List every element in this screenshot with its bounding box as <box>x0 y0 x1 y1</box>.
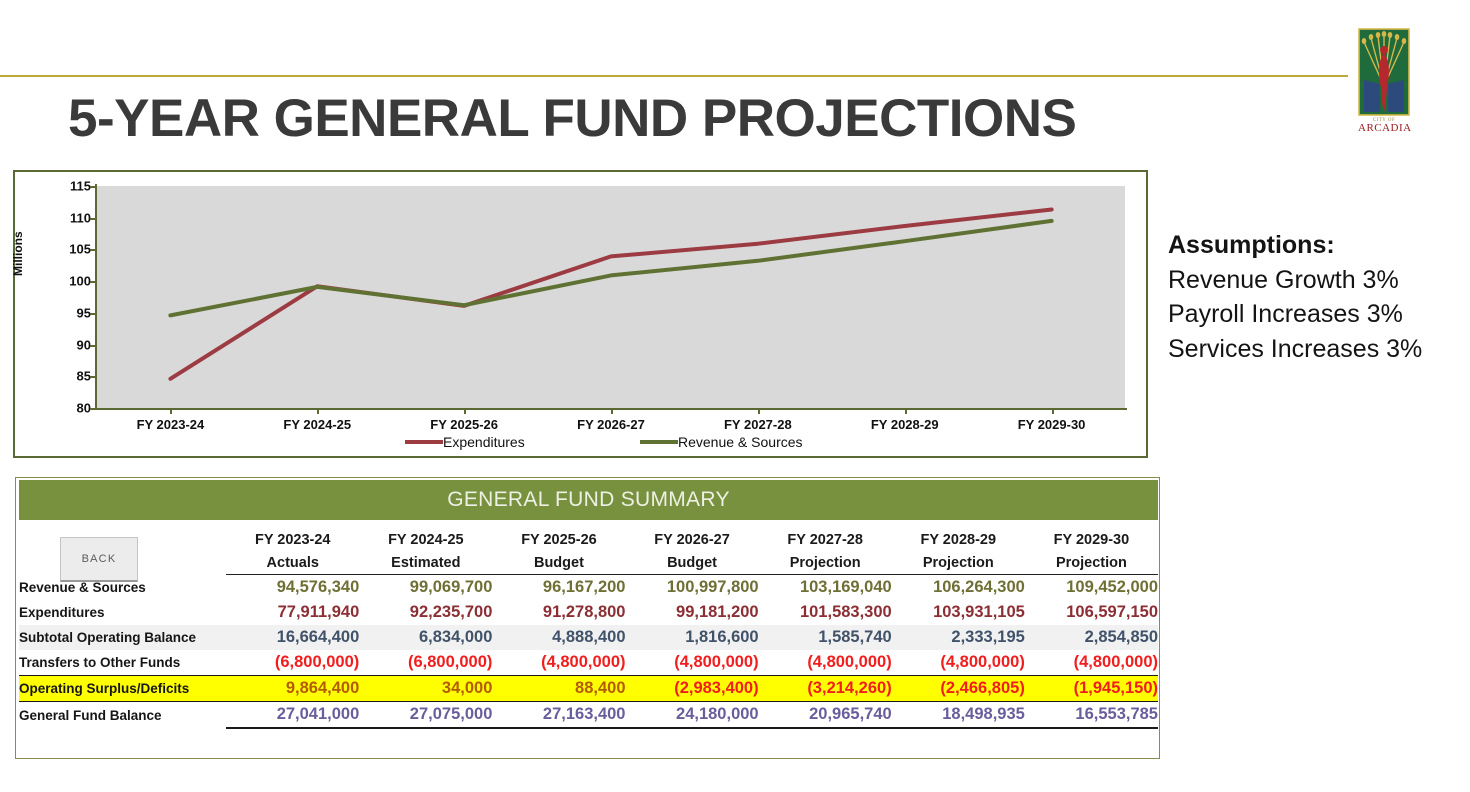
x-tick-mark <box>317 408 319 414</box>
column-header-subtitle: Projection <box>759 552 892 574</box>
legend-swatch-icon <box>640 440 678 444</box>
row-label: Transfers to Other Funds <box>19 650 226 676</box>
column-header-fiscal-year: FY 2023-24 <box>226 529 359 551</box>
column-header-subtitle: Projection <box>1025 552 1158 574</box>
table-cell: 94,576,340 <box>226 575 359 601</box>
x-tick-mark <box>1052 408 1054 414</box>
table-cell: 27,163,400 <box>492 702 625 729</box>
table-row: Transfers to Other Funds(6,800,000)(6,80… <box>19 650 1158 676</box>
table-cell: (4,800,000) <box>892 650 1025 676</box>
table-cell: 77,911,940 <box>226 600 359 625</box>
peacock-icon <box>1358 28 1410 116</box>
x-tick-mark <box>758 408 760 414</box>
table-cell: 99,181,200 <box>626 600 759 625</box>
column-header-fiscal-year: FY 2028-29 <box>892 529 1025 551</box>
column-header-fiscal-year: FY 2025-26 <box>492 529 625 551</box>
table-row: Expenditures77,911,94092,235,70091,278,8… <box>19 600 1158 625</box>
table-head: FY 2023-24ActualsFY 2024-25EstimatedFY 2… <box>19 526 1158 575</box>
header-divider-rule <box>0 75 1348 77</box>
table-cell: (4,800,000) <box>492 650 625 676</box>
series-line-revenue-sources <box>170 221 1051 316</box>
x-tick-mark <box>170 408 172 414</box>
column-header: FY 2023-24Actuals <box>226 526 359 575</box>
y-tick-mark <box>90 186 95 188</box>
table-cell: 16,553,785 <box>1025 702 1158 729</box>
table-cell: 34,000 <box>359 676 492 702</box>
table-body: Revenue & Sources94,576,34099,069,70096,… <box>19 575 1158 729</box>
table-cell: 2,333,195 <box>892 625 1025 650</box>
x-tick-label: FY 2025-26 <box>430 417 498 432</box>
table-cell: 109,452,000 <box>1025 575 1158 601</box>
table-cell: 6,834,000 <box>359 625 492 650</box>
column-header-fiscal-year: FY 2026-27 <box>626 529 759 551</box>
legend-swatch-icon <box>405 440 443 444</box>
table-cell: 1,585,740 <box>759 625 892 650</box>
column-header-fiscal-year: FY 2024-25 <box>359 529 492 551</box>
y-tick-mark <box>90 281 95 283</box>
column-header: FY 2025-26Budget <box>492 526 625 575</box>
x-tick-label: FY 2023-24 <box>137 417 205 432</box>
projection-line-chart: Millions 80859095100105110115 Expenditur… <box>13 170 1148 458</box>
y-tick-label: 105 <box>57 242 91 257</box>
assumption-line-1: Revenue Growth 3% <box>1168 263 1463 298</box>
table-cell: 103,169,040 <box>759 575 892 601</box>
table-row: Operating Surplus/Deficits9,864,40034,00… <box>19 676 1158 702</box>
column-header: FY 2024-25Estimated <box>359 526 492 575</box>
y-tick-label: 115 <box>57 179 91 194</box>
logo-caption-main: ARCADIA <box>1358 123 1410 135</box>
y-tick-label: 85 <box>57 369 91 384</box>
legend-entry: Revenue & Sources <box>640 434 803 450</box>
y-tick-label: 80 <box>57 401 91 416</box>
table-cell: 27,041,000 <box>226 702 359 729</box>
table-cell: 106,264,300 <box>892 575 1025 601</box>
table-cell: (6,800,000) <box>226 650 359 676</box>
table-header-row: FY 2023-24ActualsFY 2024-25EstimatedFY 2… <box>19 526 1158 575</box>
table-cell: (4,800,000) <box>759 650 892 676</box>
table-cell: (4,800,000) <box>626 650 759 676</box>
x-tick-mark <box>905 408 907 414</box>
table-corner-cell <box>19 526 226 575</box>
table-cell: 27,075,000 <box>359 702 492 729</box>
row-label: Operating Surplus/Deficits <box>19 676 226 702</box>
y-tick-label: 95 <box>57 305 91 320</box>
table-cell: (6,800,000) <box>359 650 492 676</box>
general-fund-summary-panel: GENERAL FUND SUMMARY BACK FY 2023-24Actu… <box>15 477 1160 759</box>
row-label: Subtotal Operating Balance <box>19 625 226 650</box>
y-tick-mark <box>90 218 95 220</box>
table-cell: 16,664,400 <box>226 625 359 650</box>
x-tick-label: FY 2029-30 <box>1018 417 1086 432</box>
x-tick-label: FY 2024-25 <box>283 417 351 432</box>
assumptions-title: Assumptions: <box>1168 228 1463 263</box>
row-label: General Fund Balance <box>19 702 226 729</box>
row-label: Expenditures <box>19 600 226 625</box>
table-cell: 100,997,800 <box>626 575 759 601</box>
table-cell: 103,931,105 <box>892 600 1025 625</box>
legend-entry: Expenditures <box>405 434 525 450</box>
table-cell: 101,583,300 <box>759 600 892 625</box>
y-tick-mark <box>90 249 95 251</box>
table-cell: 18,498,935 <box>892 702 1025 729</box>
table-row: Revenue & Sources94,576,34099,069,70096,… <box>19 575 1158 601</box>
chart-y-axis-title: Millions <box>11 231 25 276</box>
assumptions-block: Assumptions: Revenue Growth 3% Payroll I… <box>1168 228 1463 366</box>
series-line-expenditures <box>170 210 1051 379</box>
column-header: FY 2028-29Projection <box>892 526 1025 575</box>
table-cell: 99,069,700 <box>359 575 492 601</box>
table-cell: 106,597,150 <box>1025 600 1158 625</box>
table-row: General Fund Balance27,041,00027,075,000… <box>19 702 1158 729</box>
page-title: 5-YEAR GENERAL FUND PROJECTIONS <box>68 88 1076 149</box>
y-tick-label: 100 <box>57 274 91 289</box>
chart-series-lines <box>97 186 1125 408</box>
table-cell: (2,983,400) <box>626 676 759 702</box>
legend-label: Expenditures <box>443 434 525 450</box>
column-header: FY 2026-27Budget <box>626 526 759 575</box>
column-header: FY 2027-28Projection <box>759 526 892 575</box>
table-cell: 92,235,700 <box>359 600 492 625</box>
chart-y-axis-labels: 80859095100105110115 <box>51 186 91 408</box>
x-tick-label: FY 2027-28 <box>724 417 792 432</box>
column-header-subtitle: Budget <box>626 552 759 574</box>
column-header-subtitle: Projection <box>892 552 1025 574</box>
x-tick-mark <box>464 408 466 414</box>
assumption-line-2: Payroll Increases 3% <box>1168 297 1463 332</box>
general-fund-summary-table: FY 2023-24ActualsFY 2024-25EstimatedFY 2… <box>19 526 1158 729</box>
table-cell: 9,864,400 <box>226 676 359 702</box>
y-tick-mark <box>90 313 95 315</box>
y-tick-label: 90 <box>57 337 91 352</box>
chart-legend: ExpendituresRevenue & Sources <box>15 434 1146 454</box>
table-cell: 88,400 <box>492 676 625 702</box>
table-row: Subtotal Operating Balance16,664,4006,83… <box>19 625 1158 650</box>
y-tick-mark <box>90 345 95 347</box>
table-cell: (1,945,150) <box>1025 676 1158 702</box>
table-cell: 91,278,800 <box>492 600 625 625</box>
summary-banner-title: GENERAL FUND SUMMARY <box>19 480 1158 520</box>
table-cell: 24,180,000 <box>626 702 759 729</box>
table-cell: (4,800,000) <box>1025 650 1158 676</box>
column-header-fiscal-year: FY 2027-28 <box>759 529 892 551</box>
city-of-arcadia-logo: CITY OF ARCADIA <box>1358 28 1416 138</box>
column-header: FY 2029-30Projection <box>1025 526 1158 575</box>
x-tick-mark <box>611 408 613 414</box>
column-header-subtitle: Estimated <box>359 552 492 574</box>
x-tick-label: FY 2028-29 <box>871 417 939 432</box>
table-cell: 1,816,600 <box>626 625 759 650</box>
column-header-subtitle: Actuals <box>226 552 359 574</box>
legend-label: Revenue & Sources <box>678 434 803 450</box>
row-label: Revenue & Sources <box>19 575 226 601</box>
column-header-fiscal-year: FY 2029-30 <box>1025 529 1158 551</box>
x-tick-label: FY 2026-27 <box>577 417 645 432</box>
column-header-subtitle: Budget <box>492 552 625 574</box>
table-cell: (2,466,805) <box>892 676 1025 702</box>
y-tick-mark <box>90 376 95 378</box>
table-cell: 20,965,740 <box>759 702 892 729</box>
table-cell: 4,888,400 <box>492 625 625 650</box>
table-cell: 2,854,850 <box>1025 625 1158 650</box>
table-cell: 96,167,200 <box>492 575 625 601</box>
table-cell: (3,214,260) <box>759 676 892 702</box>
assumption-line-3: Services Increases 3% <box>1168 332 1463 367</box>
y-tick-label: 110 <box>57 210 91 225</box>
